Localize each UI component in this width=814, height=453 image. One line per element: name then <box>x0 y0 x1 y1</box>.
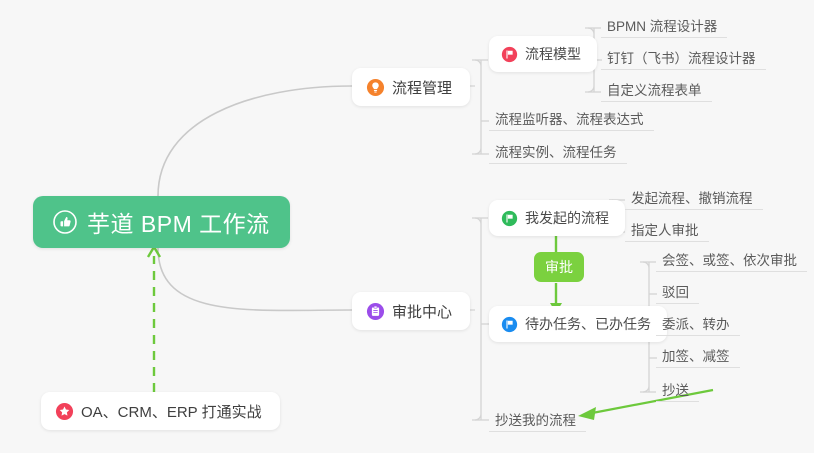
leaf-start-cancel-process[interactable]: 发起流程、撤销流程 <box>625 180 763 210</box>
leaf-custom-form[interactable]: 自定义流程表单 <box>601 72 712 102</box>
node-label: 流程模型 <box>525 44 581 64</box>
leaf-countersign[interactable]: 会签、或签、依次审批 <box>656 242 807 272</box>
approval-tag[interactable]: 审批 <box>534 252 584 282</box>
leaf-dingtalk-designer[interactable]: 钉钉（飞书）流程设计器 <box>601 40 766 70</box>
root-node[interactable]: 芋道 BPM 工作流 <box>33 196 290 248</box>
approval-tag-label: 审批 <box>545 257 573 277</box>
bottom-note-label: OA、CRM、ERP 打通实战 <box>81 401 262 422</box>
branch-approval-center[interactable]: 审批中心 <box>352 292 470 330</box>
root-label: 芋道 BPM 工作流 <box>87 205 270 239</box>
flag-icon <box>501 316 518 333</box>
leaf-process-instance[interactable]: 流程实例、流程任务 <box>489 134 627 164</box>
node-my-started-process[interactable]: 我发起的流程 <box>489 200 625 236</box>
leaf-assignee-approval[interactable]: 指定人审批 <box>625 212 709 242</box>
thumbs-up-icon <box>53 210 77 234</box>
connector-root-to-approval-center <box>158 248 352 310</box>
leaf-delegate-transfer[interactable]: 委派、转办 <box>656 306 740 336</box>
branch-label: 流程管理 <box>392 77 452 98</box>
bottom-note-node[interactable]: OA、CRM、ERP 打通实战 <box>41 392 280 430</box>
branch-label: 审批中心 <box>392 301 452 322</box>
node-label: 我发起的流程 <box>525 208 609 228</box>
connector-root-to-process-management <box>158 86 352 196</box>
leaf-reject[interactable]: 驳回 <box>656 274 699 304</box>
leaf-cc[interactable]: 抄送 <box>656 372 699 402</box>
leaf-add-remove-sign[interactable]: 加签、减签 <box>656 338 740 368</box>
clipboard-icon <box>366 302 385 321</box>
flag-icon <box>501 210 518 227</box>
leaf-cc-my-process[interactable]: 抄送我的流程 <box>489 402 586 432</box>
flag-icon <box>501 46 518 63</box>
leaf-process-listener[interactable]: 流程监听器、流程表达式 <box>489 101 654 131</box>
node-todo-done-task[interactable]: 待办任务、已办任务 <box>489 306 667 342</box>
star-icon <box>55 402 74 421</box>
lightbulb-icon <box>366 78 385 97</box>
arrow-head-up <box>148 247 160 257</box>
leaf-bpmn-designer[interactable]: BPMN 流程设计器 <box>601 8 727 38</box>
node-process-model[interactable]: 流程模型 <box>489 36 597 72</box>
node-label: 待办任务、已办任务 <box>525 314 651 334</box>
mindmap-canvas: 芋道 BPM 工作流 OA、CRM、ERP 打通实战 流程管理 <box>0 0 814 453</box>
branch-process-management[interactable]: 流程管理 <box>352 68 470 106</box>
